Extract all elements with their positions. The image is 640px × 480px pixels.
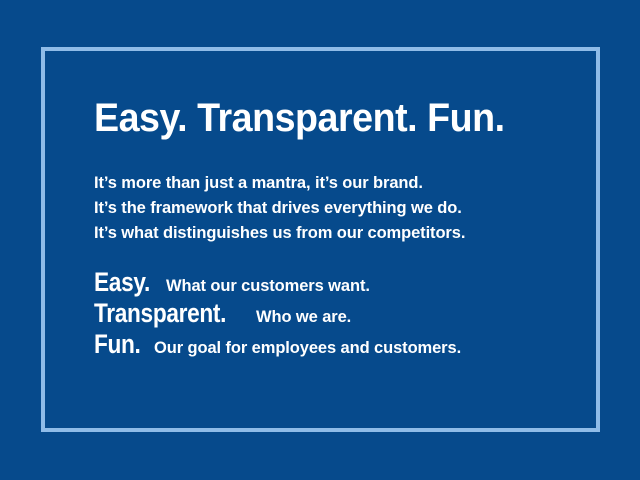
pillar-keyword: Fun. (94, 329, 141, 360)
body-line: It’s what distinguishes us from our comp… (94, 220, 550, 245)
pillar-list: Easy.What our customers want. Transparen… (94, 267, 564, 360)
list-item: Easy.What our customers want. (94, 267, 564, 298)
pillar-description: Our goal for employees and customers. (154, 332, 461, 363)
slide-canvas: Easy. Transparent. Fun. It’s more than j… (0, 0, 640, 480)
body-line: It’s the framework that drives everythin… (94, 195, 550, 220)
slide-content: Easy. Transparent. Fun. It’s more than j… (94, 96, 564, 360)
page-title: Easy. Transparent. Fun. (94, 96, 536, 140)
body-line: It’s more than just a mantra, it’s our b… (94, 170, 550, 195)
pillar-description: Who we are. (256, 301, 351, 332)
body-paragraph: It’s more than just a mantra, it’s our b… (94, 170, 564, 245)
list-item: Fun.Our goal for employees and customers… (94, 329, 564, 360)
list-item: Transparent.Who we are. (94, 298, 564, 329)
pillar-keyword: Transparent. (94, 298, 226, 329)
pillar-keyword: Easy. (94, 267, 150, 298)
pillar-description: What our customers want. (166, 270, 370, 301)
